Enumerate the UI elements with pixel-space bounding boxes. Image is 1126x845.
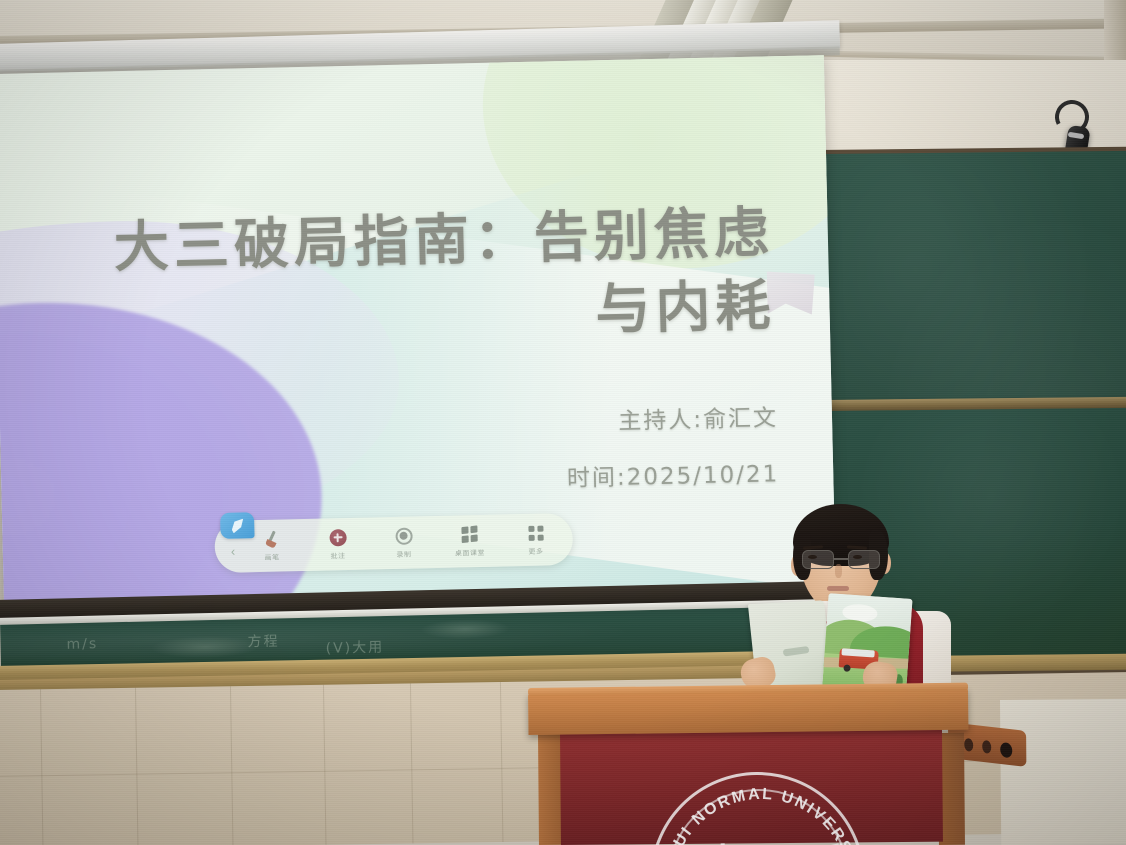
toolbar-label-more: 更多 bbox=[528, 546, 543, 556]
plus-circle-icon bbox=[329, 528, 346, 547]
eye-right bbox=[853, 555, 862, 559]
classroom-scene: m/s 方程 (V)大用 大三破局指南：告别焦虑 与内耗 bbox=[0, 0, 1126, 845]
whiteboard-toolbar[interactable]: ‹ 画笔 批注 录制 桌面课堂 bbox=[214, 513, 573, 573]
slide-title: 大三破局指南：告别焦虑 与内耗 bbox=[83, 196, 776, 357]
grid-icon bbox=[528, 523, 543, 542]
toolbar-label-record: 录制 bbox=[396, 549, 411, 559]
podium-side-cabinet bbox=[1000, 699, 1126, 845]
projection-screen: 大三破局指南：告别焦虑 与内耗 主持人:俞汇文 时间:2025/10/21 ‹ … bbox=[0, 55, 836, 619]
pen-icon bbox=[263, 529, 280, 548]
toolbar-label-desktop: 桌面课堂 bbox=[455, 548, 485, 558]
toolbar-item-pen[interactable]: 画笔 bbox=[248, 529, 295, 563]
eye-left bbox=[808, 555, 817, 559]
toolbar-item-more[interactable]: 更多 bbox=[512, 523, 559, 557]
chalk-note-2: (V)大用 bbox=[325, 637, 384, 658]
nose bbox=[835, 564, 842, 578]
mouth bbox=[827, 586, 849, 591]
windows-icon bbox=[461, 525, 477, 544]
slide-metadata: 主持人:俞汇文 时间:2025/10/21 bbox=[330, 398, 780, 498]
toolbar-item-record[interactable]: 录制 bbox=[380, 526, 427, 560]
toolbar-item-desktop[interactable]: 桌面课堂 bbox=[446, 524, 493, 558]
chalk-note-0: m/s bbox=[66, 636, 98, 653]
toolbar-label-annotate: 批注 bbox=[330, 551, 345, 561]
toolbar-label-pen: 画笔 bbox=[264, 552, 279, 562]
slide: 大三破局指南：告别焦虑 与内耗 主持人:俞汇文 时间:2025/10/21 ‹ … bbox=[0, 55, 836, 619]
record-circle-icon bbox=[395, 526, 412, 545]
chevron-left-icon[interactable]: ‹ bbox=[231, 545, 236, 558]
toolbar-item-annotate[interactable]: 批注 bbox=[314, 527, 361, 561]
